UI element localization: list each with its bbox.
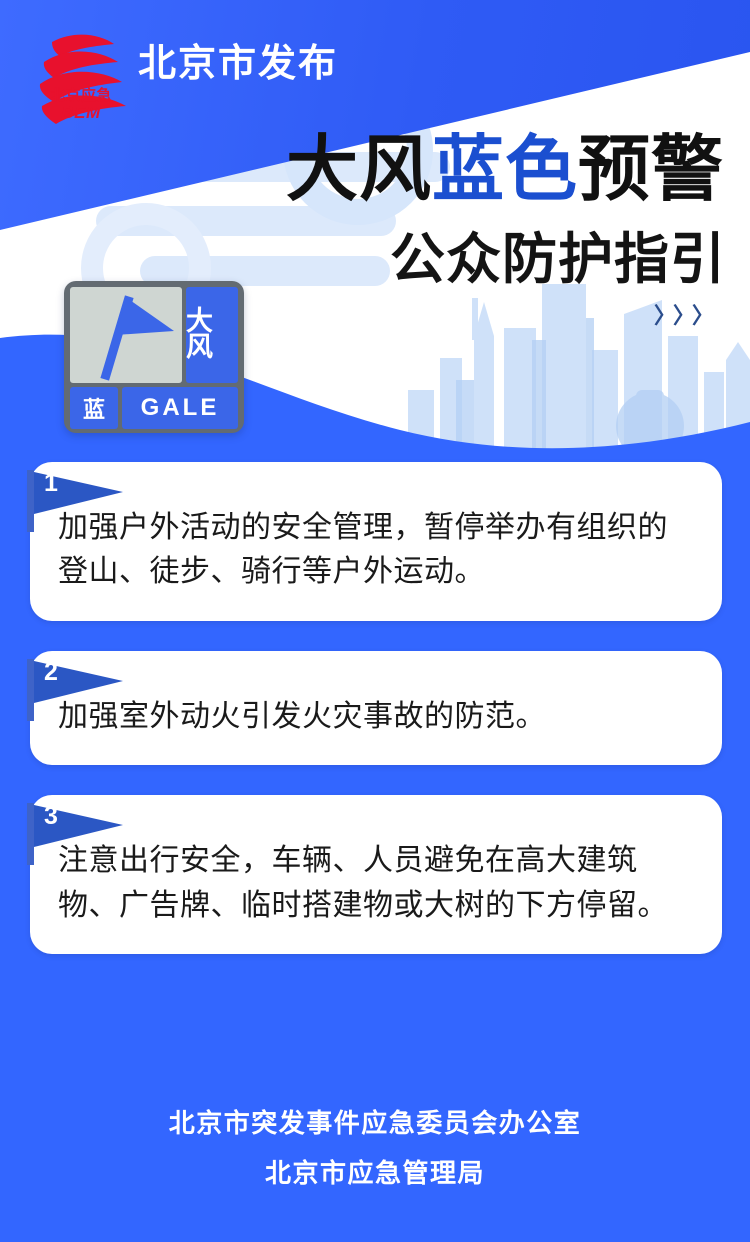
logo-caption: 北京应急 BEM [38,88,124,121]
card-text: 注意出行安全，车辆、人员避免在高大建筑物、广告牌、临时搭建物或大树的下方停留。 [58,839,694,928]
footer-line-1: 北京市突发事件应急委员会办公室 [0,1099,750,1148]
brand-title: 北京市发布 [138,32,338,87]
footer: 北京市突发事件应急委员会办公室 北京市应急管理局 [0,1099,750,1198]
wind-flag-icon [70,287,182,383]
wind-warning-sign: 大风 蓝 GALE [64,281,244,433]
pennant-badge-icon [27,470,133,532]
card-text: 加强户外活动的安全管理，暂停举办有组织的登山、徒步、骑行等户外运动。 [58,506,694,595]
headline: 大风蓝色预警 [286,134,724,206]
pennant-badge-icon [27,659,133,721]
card-number: 1 [44,471,58,496]
footer-line-2: 北京市应急管理局 [0,1149,750,1198]
poster-root: 北京应急 BEM 北京市发布 大风蓝色预警 公众防护指引 〉〉〉 大风 蓝 GA… [0,0,750,1242]
headline-highlight: 蓝色 [432,130,578,210]
list-item: 2 加强室外动火引发火灾事故的防范。 [30,651,722,765]
sign-color-char: 蓝 [70,387,118,429]
sign-top-row: 大风 [70,287,238,383]
headline-subtitle: 公众防护指引 [390,232,726,287]
card-number: 3 [44,804,58,829]
chevron-right-icon: 〉〉〉 [654,298,722,330]
logo-caption-en: BEM [38,104,124,121]
list-item: 3 注意出行安全，车辆、人员避免在高大建筑物、广告牌、临时搭建物或大树的下方停留… [30,795,722,954]
pennant-badge-icon [27,803,133,865]
card-text: 加强室外动火引发火灾事故的防范。 [58,695,694,739]
guideline-card-list: 1 加强户外活动的安全管理，暂停举办有组织的登山、徒步、骑行等户外运动。 2 加… [30,462,722,984]
sign-english-label: GALE [122,387,238,429]
card-number: 2 [44,660,58,685]
wind-flag-icon-box [70,287,182,383]
list-item: 1 加强户外活动的安全管理，暂停举办有组织的登山、徒步、骑行等户外运动。 [30,462,722,621]
sign-level-char: 大风 [186,287,238,383]
logo-caption-cn: 北京应急 [38,88,124,103]
headline-part2: 预警 [578,130,724,210]
headline-part1: 大风 [286,130,432,210]
sign-bottom-row: 蓝 GALE [70,387,238,429]
